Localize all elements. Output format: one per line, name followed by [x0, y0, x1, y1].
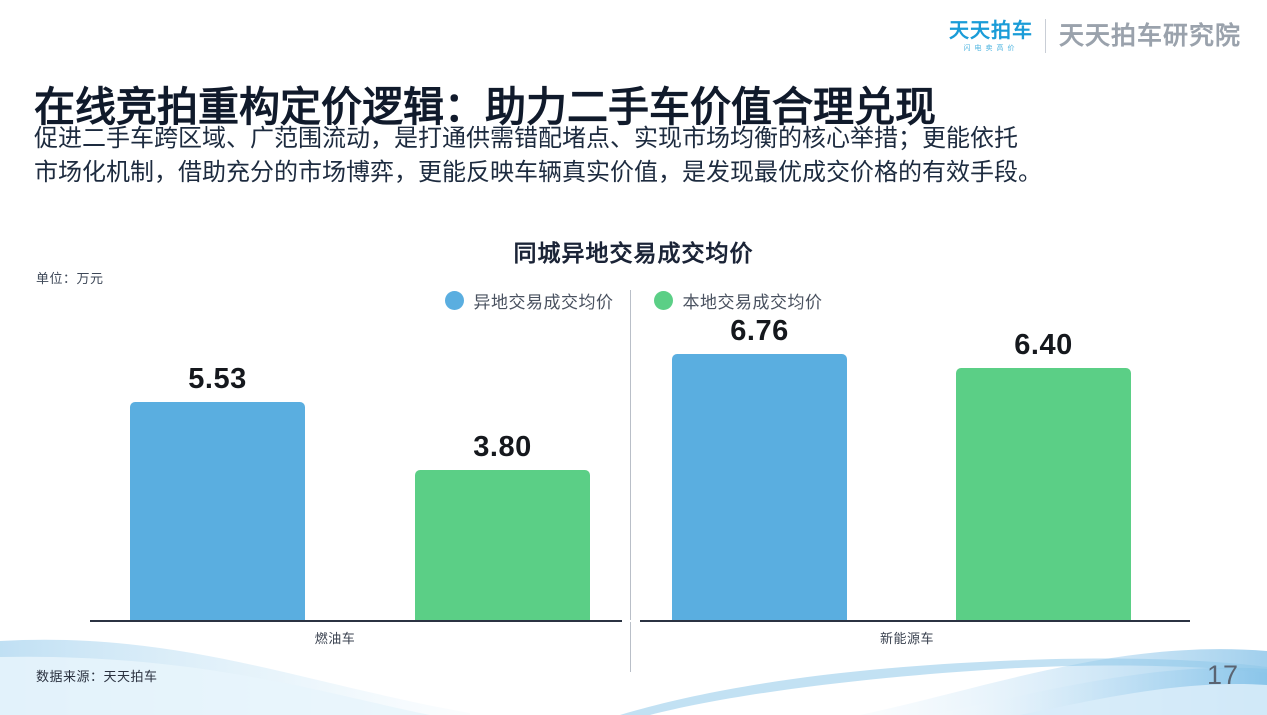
page-number: 17	[1207, 660, 1239, 691]
legend-item-local[interactable]: 本地交易成交均价	[654, 288, 823, 313]
bar-slot-fuel-remote: 5.53	[130, 320, 305, 620]
chart-axis-line	[90, 620, 1190, 622]
bar-value-fuel-remote: 5.53	[130, 363, 305, 396]
legend-label-local: 本地交易成交均价	[683, 288, 823, 313]
bar-value-nev-remote: 6.76	[672, 315, 847, 348]
bar-group-nev: 6.76 6.40	[630, 320, 1170, 620]
chart-title: 同城异地交易成交均价	[0, 234, 1267, 268]
chart-plot-area: 5.53 3.80 6.76 6.40	[90, 320, 1190, 620]
bar-value-nev-local: 6.40	[956, 329, 1131, 362]
bar-slot-nev-remote: 6.76	[672, 320, 847, 620]
category-label-nev: 新能源车	[857, 628, 957, 647]
brand-header: 天天拍车 闪电卖高价 天天拍车研究院	[949, 14, 1241, 58]
data-source-label: 数据来源：天天拍车	[36, 666, 158, 685]
brand-logo: 天天拍车 闪电卖高价	[949, 20, 1045, 52]
brand-name-text: 天天拍车研究院	[1046, 24, 1241, 49]
bar-fuel-remote[interactable]	[130, 402, 305, 620]
bar-nev-local[interactable]	[956, 368, 1131, 620]
page-subtitle: 促进二手车跨区域、广范围流动，是打通供需错配堵点、实现市场均衡的核心举措；更能依…	[34, 122, 1204, 190]
legend-swatch-remote	[445, 291, 464, 310]
chart-unit-label: 单位：万元	[36, 268, 104, 287]
chart-legend: 异地交易成交均价 本地交易成交均价	[0, 288, 1267, 313]
chart-axis-gap	[622, 620, 640, 622]
bar-value-fuel-local: 3.80	[415, 431, 590, 464]
bar-nev-remote[interactable]	[672, 354, 847, 620]
bar-fuel-local[interactable]	[415, 470, 590, 620]
brand-logo-main-text: 天天拍车	[949, 20, 1033, 42]
page-subtitle-line-2: 市场化机制，借助充分的市场博弈，更能反映车辆真实价值，是发现最优成交价格的有效手…	[34, 156, 1204, 190]
page-subtitle-line-1: 促进二手车跨区域、广范围流动，是打通供需错配堵点、实现市场均衡的核心举措；更能依…	[34, 122, 1204, 156]
bar-group-fuel: 5.53 3.80	[90, 320, 630, 620]
legend-swatch-local	[654, 291, 673, 310]
bar-slot-fuel-local: 3.80	[415, 320, 590, 620]
category-label-fuel: 燃油车	[285, 628, 385, 647]
bar-slot-nev-local: 6.40	[956, 320, 1131, 620]
legend-item-remote[interactable]: 异地交易成交均价	[445, 288, 614, 313]
brand-logo-sub-text: 闪电卖高价	[963, 45, 1018, 52]
legend-label-remote: 异地交易成交均价	[474, 288, 614, 313]
slide-root: 天天拍车 闪电卖高价 天天拍车研究院 在线竞拍重构定价逻辑：助力二手车价值合理兑…	[0, 0, 1267, 715]
